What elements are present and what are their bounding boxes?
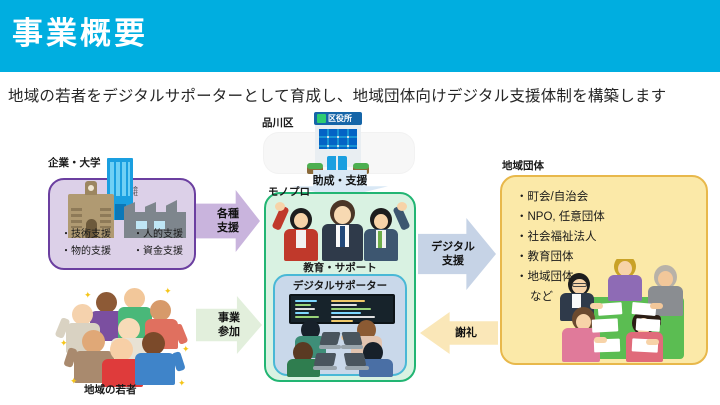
arrow-digital-support-line2: 支援 xyxy=(431,254,475,268)
ward-office-building-icon: 区役所 xyxy=(305,112,371,174)
left-item-0: ・技術支援 xyxy=(50,226,122,243)
arrow-business-participation: 事業 参加 xyxy=(196,296,262,354)
arrow-various-support-line1: 各種 xyxy=(217,207,239,221)
cheering-team-illustration xyxy=(274,198,410,260)
center-panel-label: モノプロ xyxy=(268,184,310,199)
ward-label: 品川区 xyxy=(262,115,294,130)
right-item-1: ・NPO, 任意団体 xyxy=(516,207,605,227)
left-panel-items: ・技術支援 ・人的支援 ・物的支援 ・資金支援 xyxy=(50,226,194,260)
arrow-digital-support-line1: デジタル xyxy=(431,240,475,254)
right-item-2: ・社会福祉法人 xyxy=(516,227,605,247)
supporters-working-illustration xyxy=(285,320,399,376)
left-item-1: ・人的支援 xyxy=(122,226,194,243)
education-support-caption: 教育・サポート xyxy=(266,260,414,275)
arrow-participation-line2: 参加 xyxy=(218,325,240,339)
arrow-grant-support-label: 助成・支援 xyxy=(313,174,368,188)
right-item-0: ・町会/自治会 xyxy=(516,187,605,207)
left-panel-label: 企業・大学 xyxy=(48,155,101,170)
left-item-2: ・物的支援 xyxy=(50,243,122,260)
arrow-thanks: 謝礼 xyxy=(420,312,498,354)
arrow-participation-line1: 事業 xyxy=(218,311,240,325)
community-groups-panel: ・町会/自治会 ・NPO, 任意団体 ・社会福祉法人 ・教育団体 ・地域団体 な… xyxy=(500,175,708,365)
digital-supporter-caption: デジタルサポーター xyxy=(275,278,405,293)
subtitle-text: 地域の若者をデジタルサポーターとして育成し、地域団体向けデジタル支援体制を構築し… xyxy=(8,84,714,106)
arrow-various-support: 各種 支援 xyxy=(196,190,260,252)
corporate-university-panel: 会社 ・技術支援 ・人的支援 ・物的支援 ・資金支援 xyxy=(48,178,196,270)
title-banner: 事業概要 xyxy=(0,0,720,72)
arrow-digital-support: デジタル 支援 xyxy=(418,218,496,290)
digital-supporter-panel: デジタルサポーター xyxy=(273,274,407,376)
arrow-various-support-line2: 支援 xyxy=(217,221,239,235)
ward-office-sign: 区役所 xyxy=(328,113,352,124)
local-youth-caption: 地域の若者 xyxy=(84,382,137,397)
right-panel-label: 地域団体 xyxy=(502,158,544,173)
community-meeting-illustration xyxy=(558,259,710,371)
monopro-panel: 教育・サポート デジタルサポーター xyxy=(264,192,416,382)
arrow-thanks-label: 謝礼 xyxy=(455,326,477,340)
left-item-3: ・資金支援 xyxy=(122,243,194,260)
company-sign-label: 会社 xyxy=(132,186,139,196)
local-youth-illustration: ✦ ✦ ✦ ✦ ✦ ✦ xyxy=(52,278,198,398)
page-title: 事業概要 xyxy=(12,14,148,54)
slide-canvas: 事業概要 地域の若者をデジタルサポーターとして育成し、地域団体向けデジタル支援体… xyxy=(0,0,720,405)
